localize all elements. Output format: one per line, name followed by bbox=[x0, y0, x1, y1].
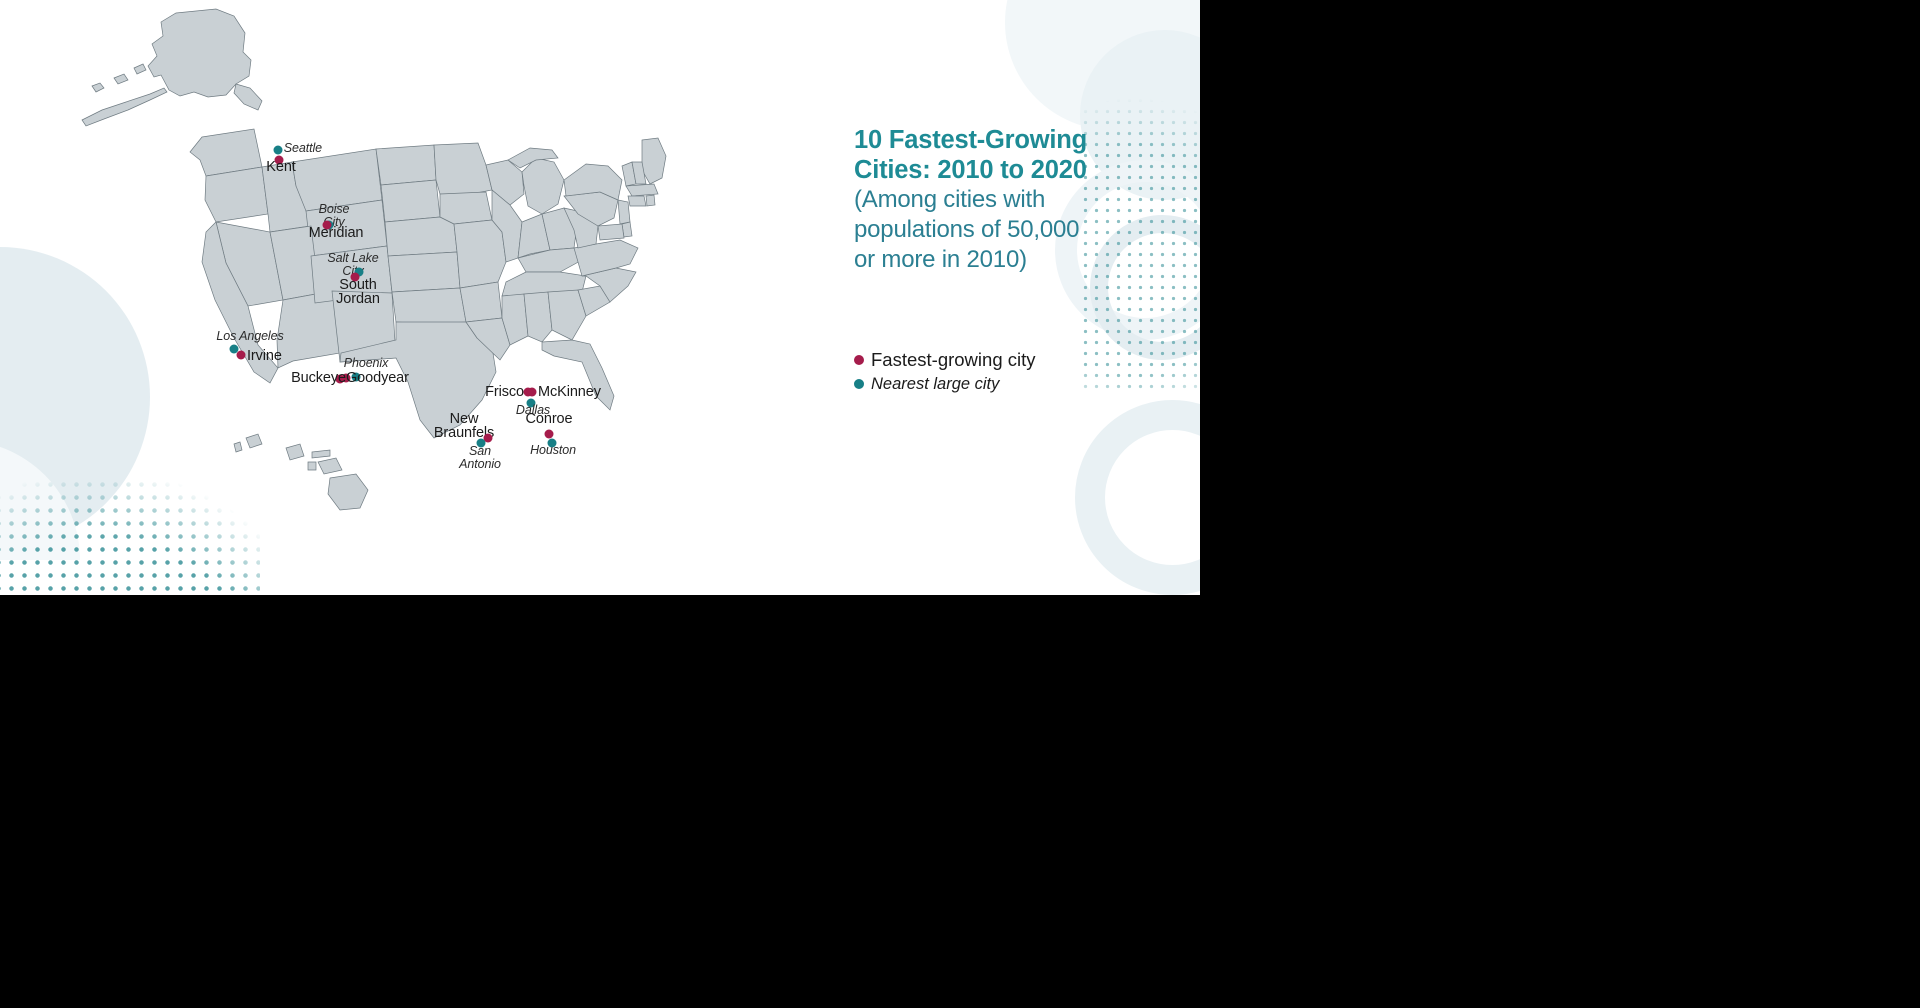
legend-dot-nearest-icon bbox=[854, 379, 864, 389]
infographic-artboard: Seattle Kent Boise City Meridian Salt La… bbox=[0, 0, 1200, 595]
subtitle-line-3: or more in 2010) bbox=[854, 246, 1027, 273]
title-line-2: Cities: 2010 to 2020 bbox=[854, 156, 1087, 184]
city-label-south-jordan: South Jordan bbox=[336, 278, 380, 306]
city-label-irvine: Irvine bbox=[247, 349, 282, 363]
state-hawaii-kauai bbox=[246, 434, 262, 448]
screenshot-canvas: Seattle Kent Boise City Meridian Salt La… bbox=[0, 0, 1920, 1008]
state-alabama bbox=[524, 292, 552, 342]
state-oregon bbox=[205, 167, 268, 222]
state-arizona bbox=[277, 291, 340, 368]
city-label-houston: Houston bbox=[530, 444, 576, 457]
us-map-svg bbox=[30, 0, 860, 530]
state-arkansas bbox=[460, 282, 502, 322]
map-legend: Fastest-growing city Nearest large city bbox=[854, 348, 1194, 396]
marker-frisco[interactable] bbox=[524, 388, 533, 397]
marker-seattle[interactable] bbox=[274, 146, 283, 155]
state-hawaii-maui bbox=[318, 458, 342, 474]
state-maine bbox=[642, 138, 666, 184]
state-hawaii-lanai bbox=[308, 462, 316, 470]
state-massachusetts bbox=[626, 184, 658, 196]
state-hawaii-molokai bbox=[312, 450, 330, 458]
legend-label-nearest: Nearest large city bbox=[871, 375, 999, 394]
state-iowa bbox=[440, 192, 492, 224]
state-south-dakota bbox=[381, 180, 440, 222]
state-rhode-island bbox=[646, 195, 655, 206]
state-nebraska bbox=[385, 217, 457, 256]
city-label-seattle: Seattle bbox=[284, 142, 322, 155]
legend-item-fastest-growing-city: Fastest-growing city bbox=[854, 348, 1194, 372]
alaska-aleutians bbox=[82, 88, 167, 126]
alaska-islands bbox=[92, 64, 146, 92]
state-connecticut bbox=[628, 196, 646, 206]
state-maryland bbox=[598, 224, 624, 240]
state-kansas bbox=[388, 252, 460, 292]
legend-item-nearest-large-city: Nearest large city bbox=[854, 372, 1194, 396]
legend-dot-fastest-icon bbox=[854, 355, 864, 365]
decorative-ring-lower bbox=[1075, 400, 1200, 595]
city-label-buckeye: Buckeye bbox=[291, 371, 346, 385]
city-label-phoenix: Phoenix bbox=[344, 357, 388, 370]
state-minnesota bbox=[434, 143, 492, 196]
state-north-dakota bbox=[376, 145, 436, 185]
decorative-circle-top-right-large bbox=[1005, 0, 1200, 130]
city-label-san-antonio: San Antonio bbox=[459, 445, 501, 470]
city-label-mckinney: McKinney bbox=[538, 385, 601, 399]
state-hawaii-oahu bbox=[286, 444, 304, 460]
legend-label-fastest: Fastest-growing city bbox=[871, 349, 1036, 371]
city-label-meridian: Meridian bbox=[309, 226, 364, 240]
state-oklahoma bbox=[392, 288, 466, 324]
marker-conroe[interactable] bbox=[545, 430, 554, 439]
city-label-goodyear: Goodyear bbox=[346, 371, 409, 385]
alaska-panhandle bbox=[234, 84, 262, 110]
city-label-kent: Kent bbox=[266, 160, 295, 174]
subtitle-line-1: (Among cities with bbox=[854, 186, 1045, 213]
page-subtitle: (Among cities withpopulations of 50,000o… bbox=[854, 185, 1174, 275]
state-alaska bbox=[148, 9, 251, 97]
state-hawaii-niihau bbox=[234, 442, 242, 452]
subtitle-line-2: populations of 50,000 bbox=[854, 216, 1079, 243]
city-label-conroe: Conroe bbox=[526, 412, 573, 426]
title-line-1: 10 Fastest-Growing bbox=[854, 126, 1087, 154]
city-label-los-angeles: Los Angeles bbox=[216, 330, 283, 343]
us-map: Seattle Kent Boise City Meridian Salt La… bbox=[30, 0, 860, 530]
city-label-frisco: Frisco bbox=[485, 385, 524, 399]
page-title: 10 Fastest-GrowingCities: 2010 to 2020 bbox=[854, 125, 1174, 185]
marker-irvine[interactable] bbox=[237, 351, 246, 360]
state-missouri bbox=[454, 220, 506, 288]
state-hawaii-big-island bbox=[328, 474, 368, 510]
state-michigan bbox=[522, 158, 564, 214]
title-panel: 10 Fastest-GrowingCities: 2010 to 2020 (… bbox=[854, 125, 1174, 275]
state-new-jersey bbox=[618, 200, 630, 224]
